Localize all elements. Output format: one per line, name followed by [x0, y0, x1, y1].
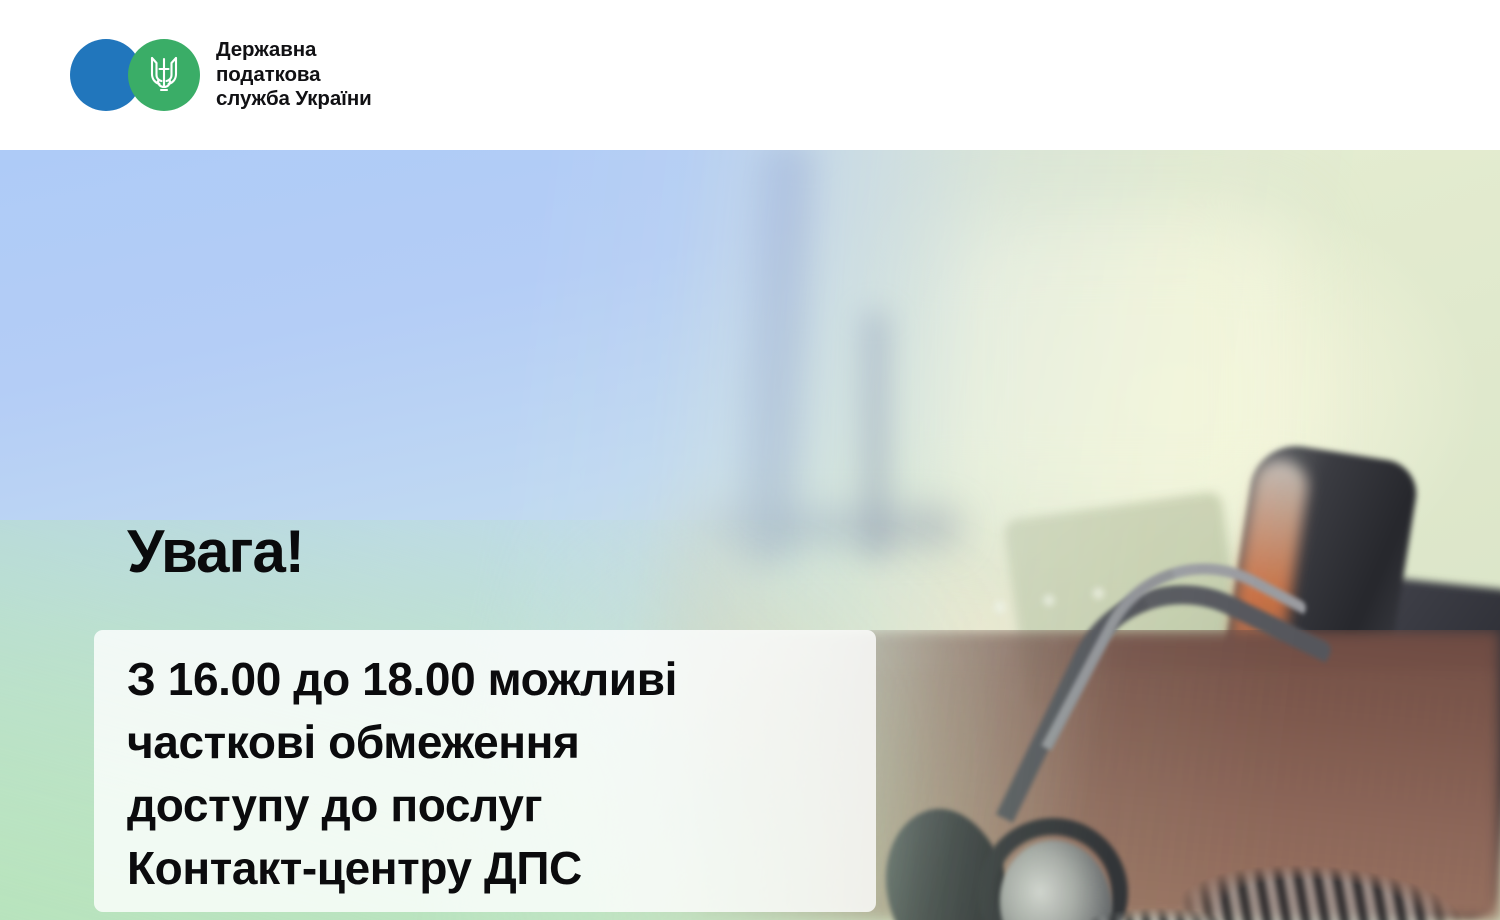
logo-title-line-3: служба України — [216, 87, 372, 112]
logo-title-line-1: Державна — [216, 38, 372, 63]
hero-stage: Увага! З 16.00 до 18.00 можливі часткові… — [0, 150, 1500, 920]
announcement-message: З 16.00 до 18.00 можливі часткові обмеже… — [127, 648, 867, 900]
header-bar: Державна податкова служба України — [0, 0, 1500, 150]
message-line-1: З 16.00 до 18.00 можливі — [127, 648, 867, 711]
announcement-poster: Державна податкова служба України — [0, 0, 1500, 920]
organization-name: Державна податкова служба України — [216, 38, 372, 112]
message-line-4: Контакт-центру ДПС — [127, 837, 867, 900]
ukraine-trident-icon — [128, 39, 200, 111]
logo-title-line-2: податкова — [216, 63, 372, 88]
page-title: Увага! — [127, 521, 304, 583]
organization-logo[interactable]: Державна податкова служба України — [70, 38, 372, 112]
message-line-2: часткові обмеження — [127, 711, 867, 774]
logo-marks — [70, 39, 200, 111]
message-line-3: доступу до послуг — [127, 774, 867, 837]
